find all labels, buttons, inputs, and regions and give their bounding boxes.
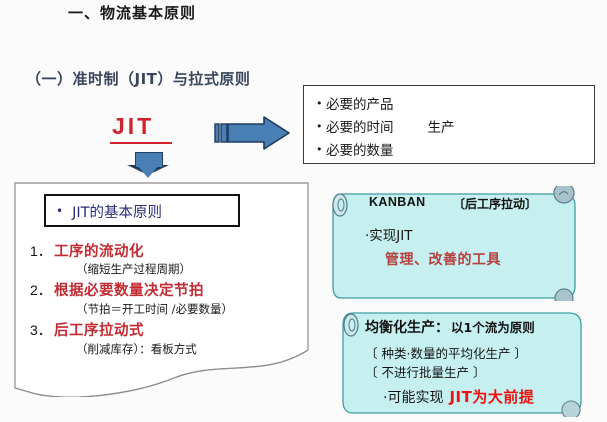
- heijunka-scroll-box: 均衡化生产：以1个流为原则 〔 种类·数量的平均化生产 〕 〔 不进行批量生产 …: [337, 305, 599, 417]
- heijunka-title: 均衡化生产：以1个流为原则: [365, 317, 535, 337]
- bullet-icon: •: [316, 139, 326, 161]
- slide-canvas: 一、物流基本原则 （一）准时制（JIT）与拉式原则 JIT •必要的产品 •必要…: [0, 0, 607, 422]
- requirement-text: 必要的数量: [326, 143, 394, 159]
- kanban-scroll-box: KANBAN 〔后工序拉动〕 ·实现JIT 管理、改善的工具: [327, 186, 589, 301]
- list-item: •必要的产品: [316, 93, 594, 116]
- principle-note-2: （节拍＝开工时间 /必要数量）: [76, 301, 233, 317]
- principle-row-3: 3．后工序拉动式: [30, 319, 144, 340]
- jit-logo-text: JIT: [112, 113, 154, 140]
- heijunka-line-1: 〔 种类·数量的平均化生产 〕: [365, 343, 527, 362]
- principles-content: •JIT的基本原则 1．工序的流动化 （缩短生产过程周期） 2．根据必要数量决定…: [14, 182, 309, 397]
- principle-index: 3．: [30, 320, 54, 340]
- heijunka-line-3: ·可能实现JIT为大前提: [383, 386, 534, 407]
- requirements-list: •必要的产品 •必要的时间生产 •必要的数量: [304, 86, 594, 162]
- principle-row-1: 1．工序的流动化: [30, 240, 144, 261]
- requirement-text: 必要的产品: [326, 97, 394, 113]
- list-item: •必要的时间生产: [316, 116, 594, 139]
- heijunka-accent-text: JIT为大前提: [449, 388, 534, 406]
- jit-logo-underline: [110, 142, 172, 144]
- requirements-box: •必要的产品 •必要的时间生产 •必要的数量: [303, 85, 595, 164]
- principle-index: 1．: [30, 241, 54, 261]
- heijunka-title-tail: 以1个流为原则: [451, 320, 535, 335]
- kanban-content: KANBAN 〔后工序拉动〕 ·实现JIT 管理、改善的工具: [327, 186, 589, 301]
- principle-index: 2．: [30, 280, 54, 300]
- principle-row-2: 2．根据必要数量决定节拍: [30, 279, 204, 300]
- jit-basic-principles-label: •JIT的基本原则: [46, 196, 238, 229]
- principle-headline: 后工序拉动式: [54, 323, 144, 339]
- principle-note-3: （削减库存）：看板方式: [76, 341, 197, 357]
- jit-basic-principles-box: •JIT的基本原则: [44, 194, 240, 227]
- bullet-icon: •: [316, 93, 326, 115]
- heijunka-line-3-text: ·可能实现: [383, 390, 443, 406]
- page-title: 一、物流基本原则: [68, 2, 196, 23]
- principle-headline: 根据必要数量决定节拍: [54, 283, 204, 299]
- heijunka-content: 均衡化生产：以1个流为原则 〔 种类·数量的平均化生产 〕 〔 不进行批量生产 …: [337, 305, 599, 417]
- down-arrow-icon: [127, 152, 169, 184]
- kanban-title: KANBAN: [369, 195, 426, 209]
- principle-note-1: （缩短生产过程周期）: [76, 261, 191, 277]
- list-item: •必要的数量: [316, 139, 594, 162]
- kanban-line-1: ·实现JIT: [365, 224, 413, 244]
- bullet-icon: •: [316, 116, 326, 138]
- heijunka-line-2: 〔 不进行批量生产 〕: [365, 362, 485, 381]
- section-title: （一）准时制（JIT）与拉式原则: [26, 68, 250, 89]
- jit-basic-principles-text: JIT的基本原则: [72, 205, 162, 221]
- down-arrow-tip: [137, 165, 159, 178]
- heijunka-title-main: 均衡化生产：: [365, 320, 449, 336]
- requirement-text: 必要的时间: [326, 120, 394, 136]
- kanban-line-2: 管理、改善的工具: [385, 249, 501, 269]
- kanban-subtitle: 〔后工序拉动〕: [453, 195, 537, 212]
- principles-card: •JIT的基本原则 1．工序的流动化 （缩短生产过程周期） 2．根据必要数量决定…: [14, 182, 309, 397]
- bullet-icon: •: [56, 204, 63, 218]
- principle-headline: 工序的流动化: [54, 244, 144, 260]
- right-arrow-icon: [212, 116, 290, 150]
- requirement-extra: 生产: [428, 117, 455, 139]
